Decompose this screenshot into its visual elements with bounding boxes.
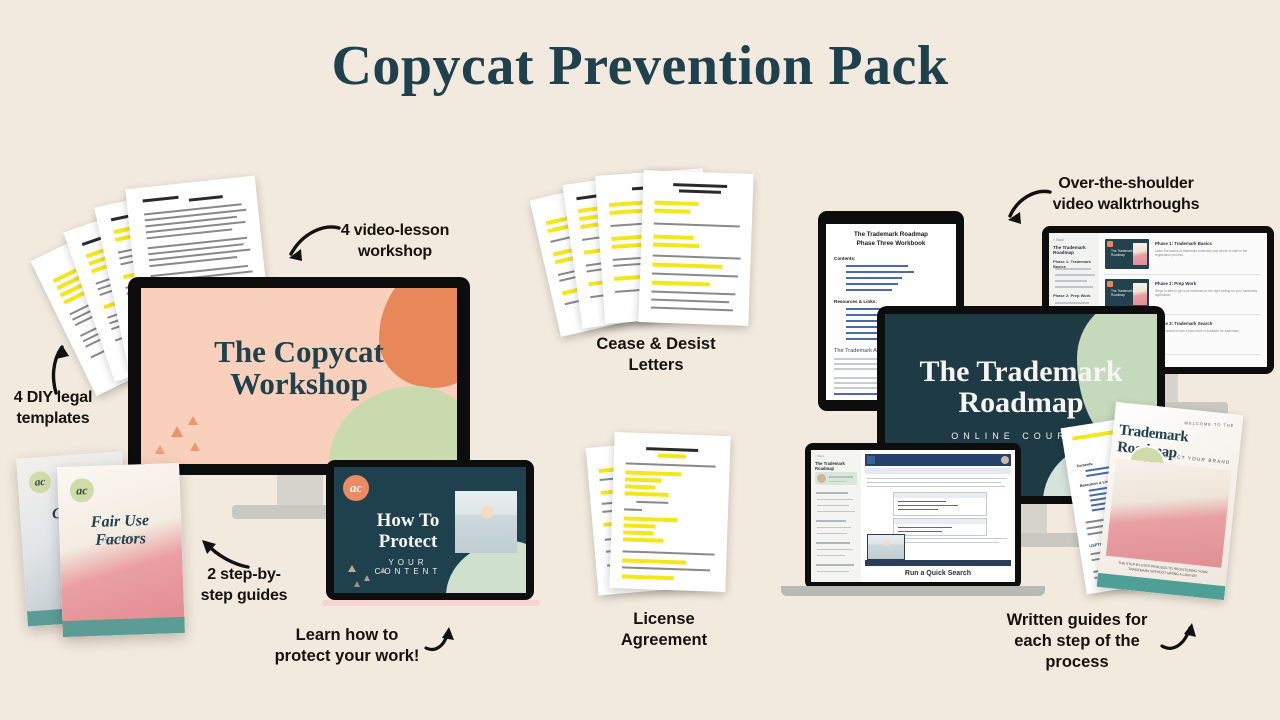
ac-monogram-logo: ac <box>343 475 369 501</box>
callout-line-1: 4 DIY legal <box>0 388 106 409</box>
module-2-label: Phase 2: Prep Work <box>1053 293 1097 298</box>
callout-over-the-shoulder: Over-the-shoulder video walktrhoughs <box>1036 174 1216 216</box>
course-name: The Trademark Roadmap <box>1053 245 1097 255</box>
slide-title-line-1: How To <box>377 510 440 531</box>
caption-license-agreement: License Agreement <box>592 609 736 651</box>
caption-line-1: Written guides for <box>996 610 1158 631</box>
laptop-sidebar-title: The Trademark Roadmap <box>815 461 859 471</box>
arrow-to-how-to-protect <box>422 622 458 656</box>
lesson-desc: Learn the basics of trademark protection… <box>1155 249 1259 257</box>
arrow-to-printed-guides <box>1158 620 1202 656</box>
workbook-title-line-1: The Trademark Roadmap <box>854 231 928 238</box>
callout-line-2: workshop <box>328 242 462 263</box>
caption-line-2: Agreement <box>592 630 736 651</box>
screen-run-quick-search: < Back The Trademark Roadmap <box>811 450 1015 582</box>
callout-line-2: video walktrhoughs <box>1036 195 1216 216</box>
cease-desist-sheet <box>638 170 753 326</box>
caption-written-guides: Written guides for each step of the proc… <box>996 610 1158 673</box>
callout-line-1: 2 step-by- <box>182 565 306 586</box>
laptop-heading: Run a Quick Search <box>865 570 1011 577</box>
slide-title-line-2: Workshop <box>230 366 368 401</box>
poster-canvas: Copycat Prevention Pack <box>0 0 1280 720</box>
caption-line-3: process <box>996 652 1158 673</box>
callout-step-by-step-guides: 2 step-by- step guides <box>182 565 306 607</box>
slide-title-line-2: Roadmap <box>958 386 1083 419</box>
callout-line-1: 4 video-lesson <box>328 221 462 242</box>
lesson-title: Phase 2: Prep Work <box>1155 281 1196 286</box>
video-webcam-overlay <box>867 534 905 560</box>
callout-line-2: templates <box>0 409 106 430</box>
workbook-section-contents: Contents: <box>834 256 855 261</box>
caption-learn-protect: Learn how to protect your work! <box>268 625 426 667</box>
caption-line-1: License <box>592 609 736 630</box>
caption-line-1: Learn how to <box>268 625 426 646</box>
workbook-title-line-2: Phase Three Workbook <box>857 240 926 247</box>
slide-title-line-1: The Trademark <box>919 355 1122 388</box>
screen-copycat-workshop: The Copycat Workshop <box>141 288 457 464</box>
slide-title-line-1: The Copycat <box>214 334 384 369</box>
page-title: Copycat Prevention Pack <box>0 34 1280 98</box>
caption-line-2: Letters <box>576 355 736 376</box>
caption-cease-desist: Cease & Desist Letters <box>576 334 736 376</box>
slide-title-line-2: Protect <box>379 531 438 552</box>
callout-diy-legal-templates: 4 DIY legal templates <box>0 388 106 430</box>
workbook-section-resources: Resources & Links: <box>834 299 877 304</box>
screen-how-to-protect: ac How To Protect YOUR CONTENT <box>334 467 526 593</box>
ebook-fair-use-factors: ac Fair Use Factors GUIDE <box>57 463 185 637</box>
callout-video-lesson-workshop: 4 video-lesson workshop <box>328 221 462 263</box>
caption-line-2: each step of the <box>996 631 1158 652</box>
lesson-desc: How to search to see if your mark is ava… <box>1155 329 1259 333</box>
caption-line-1: Cease & Desist <box>576 334 736 355</box>
lesson-row[interactable]: The TrademarkRoadmap Phase 1: Trademark … <box>1105 239 1263 271</box>
caption-line-2: protect your work! <box>268 646 426 667</box>
license-agreement-sheet <box>609 432 730 592</box>
photo-woman-working <box>455 491 517 553</box>
ebook-title: Fair Use Factors <box>65 511 176 551</box>
callout-line-1: Over-the-shoulder <box>1036 174 1216 195</box>
slide-title-copycat: The Copycat Workshop <box>141 336 457 400</box>
arrow-to-legal-templates <box>26 335 78 395</box>
slide-subtitle: YOUR CONTENT <box>354 558 462 576</box>
lesson-title: Phase 1: Trademark Basics <box>1155 241 1212 246</box>
callout-line-2: step guides <box>182 586 306 607</box>
printed-guide-cover: WELCOME TO THE Trademark Roadmap PROTECT… <box>1097 402 1244 600</box>
lesson-desc: Steps to take to get your business on th… <box>1155 289 1259 297</box>
